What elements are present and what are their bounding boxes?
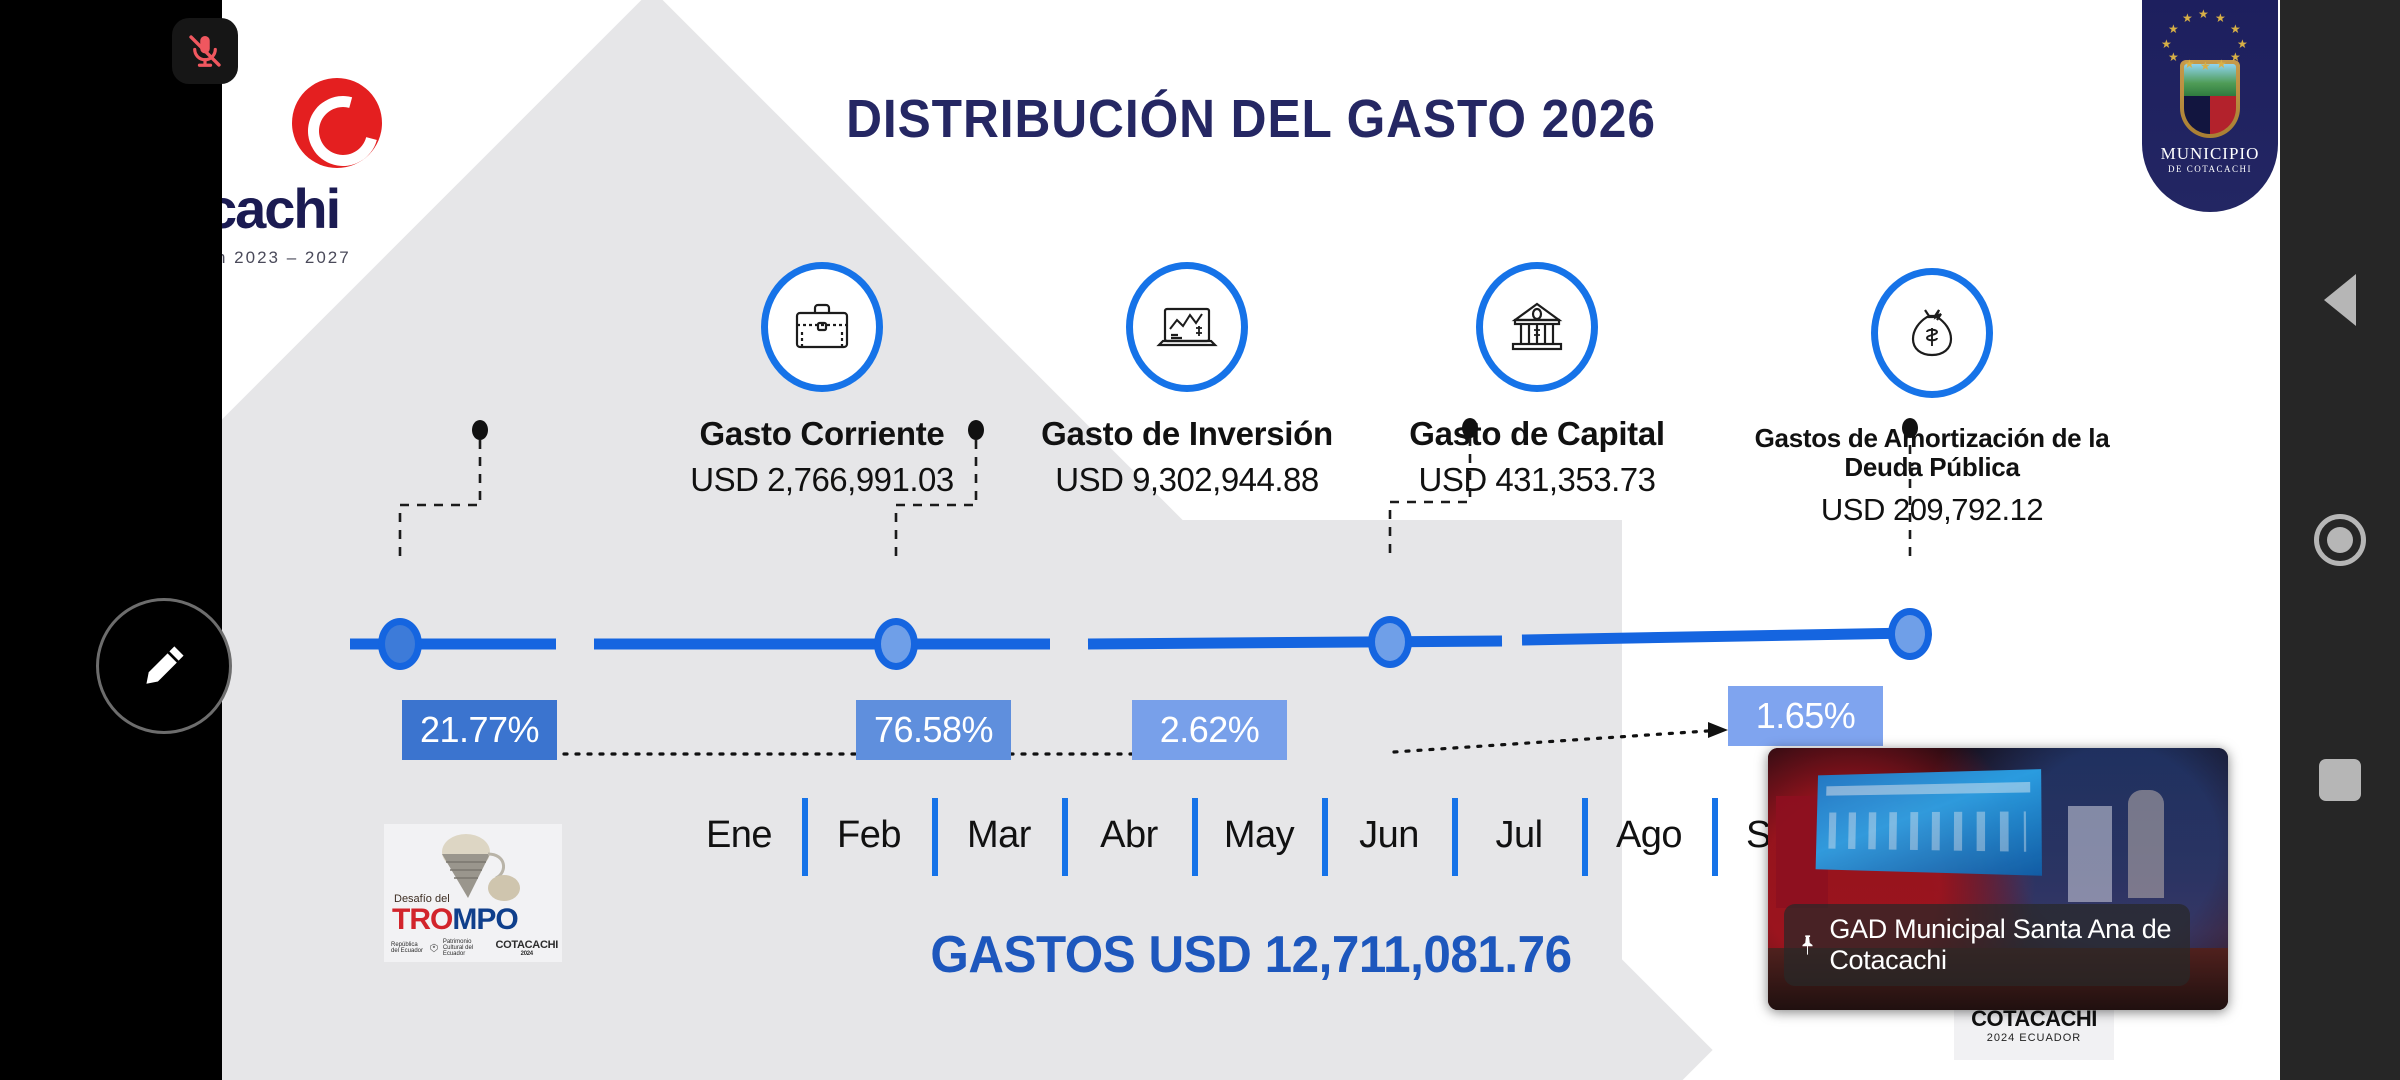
ecuador-coat-of-arms-icon — [430, 940, 438, 956]
video-caption-chip[interactable]: GAD Municipal Santa Ana de Cotacachi — [1784, 904, 2190, 986]
month-label: May — [1194, 814, 1324, 857]
shield-line-1: MUNICIPIO — [2142, 144, 2278, 164]
page-title: DISTRIBUCIÓN DEL GASTO 2026 — [304, 88, 2197, 150]
timeline-node-4[interactable] — [1888, 608, 1932, 660]
category-amount: USD 2,766,991.03 — [652, 461, 992, 499]
category-card-gasto-corriente[interactable]: Gasto Corriente USD 2,766,991.03 — [652, 262, 992, 499]
left-letterbox — [0, 0, 222, 1080]
timeline-node-2[interactable] — [874, 618, 918, 670]
poster-title-blue: MPO — [452, 903, 517, 936]
poster-city-name: COTACACHI — [496, 939, 558, 951]
brand-wordmark: cachi — [222, 176, 339, 241]
republica-ecuador-label: República del Ecuador — [391, 942, 425, 954]
home-circle-icon — [2314, 514, 2366, 566]
pin-icon — [1798, 930, 1817, 960]
video-podium — [2068, 806, 2112, 902]
category-name: Gasto de Inversión — [1012, 416, 1362, 453]
trompo-poster: Desafío del TROMPO República del Ecuador… — [384, 824, 562, 962]
category-card-gasto-inversion[interactable]: Gasto de Inversión USD 9,302,944.88 — [1012, 262, 1362, 499]
percent-badge-gasto-corriente[interactable]: 21.77% — [402, 700, 557, 760]
percent-badge-gasto-capital[interactable]: 2.62% — [1132, 700, 1287, 760]
bank-icon — [1476, 262, 1598, 392]
video-speaker — [2128, 790, 2164, 898]
category-name: Gastos de Amortización de la Deuda Públi… — [1732, 424, 2132, 482]
month-label: Ago — [1584, 814, 1714, 857]
category-card-amortizacion-deuda[interactable]: Gastos de Amortización de la Deuda Públi… — [1732, 268, 2132, 528]
category-amount: USD 431,353.73 — [1367, 461, 1707, 499]
percent-badge-gasto-inversion[interactable]: 76.58% — [856, 700, 1011, 760]
category-name: Gasto Corriente — [652, 416, 992, 453]
red-circle-mark-icon — [292, 78, 382, 168]
microphone-muted-icon[interactable] — [172, 18, 238, 84]
poster-title-red: TRO — [392, 903, 452, 936]
pencil-icon — [137, 639, 191, 693]
footer-logo-sub: 2024 ECUADOR — [1954, 1032, 2114, 1044]
municipio-cotacachi-shield: ★ ★ ★ ★ ★ ★ ★ ★ ★ ★ ★ ★ MUNICIPIO DE COT… — [2142, 0, 2278, 212]
nav-recent-apps-button[interactable] — [2280, 720, 2400, 840]
nav-back-button[interactable] — [2280, 240, 2400, 360]
month-label: Abr — [1064, 814, 1194, 857]
phone-screen: DISTRIBUCIÓN DEL GASTO 2026 Gasto Corrie… — [0, 0, 2400, 1080]
back-triangle-icon — [2324, 274, 2356, 326]
month-label: Mar — [934, 814, 1064, 857]
poster-city: COTACACHI 2024 — [496, 939, 558, 957]
android-navigation-bar — [2280, 0, 2400, 1080]
video-projection-screen — [1816, 769, 2042, 876]
timeline-node-3[interactable] — [1368, 616, 1412, 668]
month-label: Ene — [674, 814, 804, 857]
category-name: Gasto de Capital — [1367, 416, 1707, 453]
video-overlay-pip[interactable]: GAD Municipal Santa Ana de Cotacachi — [1768, 748, 2228, 1010]
month-label: Feb — [804, 814, 934, 857]
category-card-gasto-capital[interactable]: Gasto de Capital USD 431,353.73 — [1367, 262, 1707, 499]
month-label: Jun — [1324, 814, 1454, 857]
edit-pencil-button[interactable] — [96, 598, 232, 734]
brand-period-label: n 2023 – 2027 — [222, 248, 351, 268]
briefcase-icon — [761, 262, 883, 392]
laptop-chart-icon — [1126, 262, 1248, 392]
shield-line-2: DE COTACACHI — [2142, 164, 2278, 174]
money-bag-icon — [1871, 268, 1993, 398]
nav-home-button[interactable] — [2280, 480, 2400, 600]
category-amount: USD 9,302,944.88 — [1012, 461, 1362, 499]
month-label: Jul — [1454, 814, 1584, 857]
patrimonio-label: Patrimonio Cultural del Ecuador — [443, 939, 491, 957]
poster-title: TROMPO — [384, 905, 562, 935]
poster-footer: República del Ecuador Patrimonio Cultura… — [384, 935, 562, 962]
stars-ring-icon: ★ ★ ★ ★ ★ ★ ★ ★ ★ ★ ★ ★ — [2142, 6, 2278, 60]
category-amount: USD 209,792.12 — [1732, 492, 2132, 528]
video-caption-text: GAD Municipal Santa Ana de Cotacachi — [1829, 914, 2176, 976]
timeline-node-1[interactable] — [378, 618, 422, 670]
percent-badge-amortizacion[interactable]: 1.65% — [1728, 686, 1883, 746]
recent-apps-square-icon — [2319, 759, 2361, 801]
poster-year: 2024 — [496, 951, 558, 957]
